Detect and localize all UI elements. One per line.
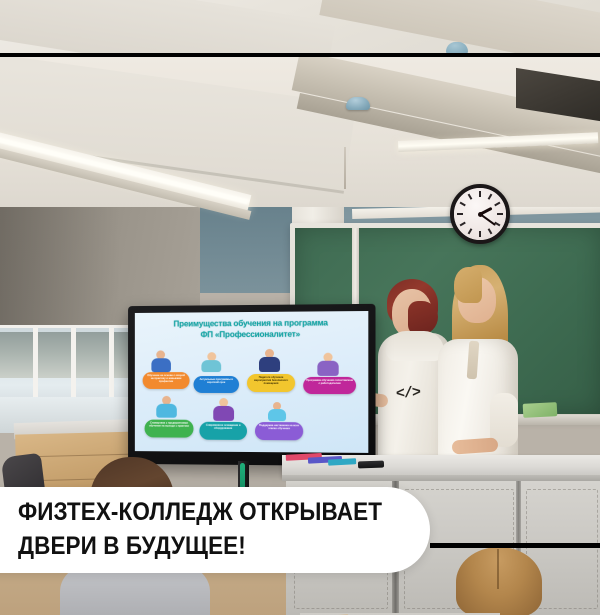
slide-figure-body	[268, 409, 286, 421]
ceiling	[0, 57, 600, 207]
slide-bubble: Стажировка с предприятиями обучение на в…	[145, 420, 194, 438]
ceiling-slab-upper	[0, 0, 336, 53]
student-hair	[456, 547, 542, 615]
slide-figure-body	[213, 406, 234, 421]
slide-figure-body	[201, 360, 221, 372]
slide-body: Обучение на основе с опорой на практику …	[139, 348, 364, 451]
presenter-left-hair-back	[408, 301, 438, 335]
presenter-left-hood	[386, 331, 444, 361]
slide-bubble: Программа обучения сопоставлена с работо…	[303, 377, 356, 394]
slide-bubble: Педагоги обучение мероприятия безопасног…	[247, 374, 295, 392]
clock-tick	[460, 202, 466, 207]
chalk-sponge	[523, 402, 558, 418]
smoke-detector-icon	[346, 97, 370, 110]
slide-title-line1: Преимущества обучения на программа	[174, 318, 328, 328]
clock-center-pin	[478, 212, 483, 217]
student-hair-part	[497, 549, 499, 589]
clock-tick	[457, 213, 463, 215]
slide-bubble: Обучение на основе с опорой на практику …	[143, 372, 190, 389]
clock-tick	[494, 202, 500, 207]
wall-clock	[450, 184, 510, 244]
slide-figure-body	[259, 357, 280, 372]
clock-tick	[460, 222, 466, 227]
wall-display[interactable]: Преимущества обучения на программа ФП «П…	[128, 304, 375, 466]
slide-bubble: Поддержка наставника на всех этапах обуч…	[255, 422, 303, 440]
presenter-right	[438, 265, 522, 465]
presenter-remote[interactable]	[358, 461, 384, 469]
booklet	[328, 458, 356, 465]
caption-line-2: ДВЕРИ В БУДУЩЕЕ!	[18, 529, 378, 563]
presenter-right-hair-front	[454, 267, 482, 303]
slide-title-line2: ФП «Профессионалитет»	[200, 329, 300, 339]
clock-tick	[468, 228, 473, 234]
slide-title: Преимущества обучения на программа ФП «П…	[135, 318, 368, 341]
image-seam-top	[0, 53, 600, 57]
ceiling-wire	[344, 147, 346, 189]
clock-tick	[479, 191, 481, 197]
slide-bubble: Современное оснащение и оборудование	[199, 422, 247, 440]
clock-tick	[497, 213, 503, 215]
hoodie-code-logo-icon: </>	[395, 384, 420, 403]
slide-figure-body	[156, 404, 177, 418]
clock-face	[454, 188, 506, 240]
display-screen[interactable]: Преимущества обучения на программа ФП «П…	[135, 311, 368, 453]
clock-tick	[479, 231, 481, 237]
caption-banner: ФИЗТЕХ-КОЛЛЕДЖ ОТКРЫВАЕТ ДВЕРИ В БУДУЩЕЕ…	[0, 487, 430, 573]
student-right-upper	[456, 547, 542, 615]
ceiling-band	[0, 0, 600, 53]
clock-tick	[468, 194, 473, 200]
photo-canvas: </> Преимущества обучения на программа	[0, 0, 600, 615]
slide-figure-body	[317, 361, 338, 376]
slide-figure-body	[151, 358, 171, 372]
clock-tick	[488, 228, 493, 234]
caption-line-1: ФИЗТЕХ-КОЛЛЕДЖ ОТКРЫВАЕТ	[18, 495, 378, 529]
clock-tick	[488, 194, 493, 200]
smoke-detector-icon	[446, 42, 468, 53]
slide-bubble: Актуальные программы в короткий срок	[194, 376, 240, 393]
caption-text: ФИЗТЕХ-КОЛЛЕДЖ ОТКРЫВАЕТ ДВЕРИ В БУДУЩЕЕ…	[18, 495, 378, 564]
image-seam-right	[430, 543, 600, 548]
